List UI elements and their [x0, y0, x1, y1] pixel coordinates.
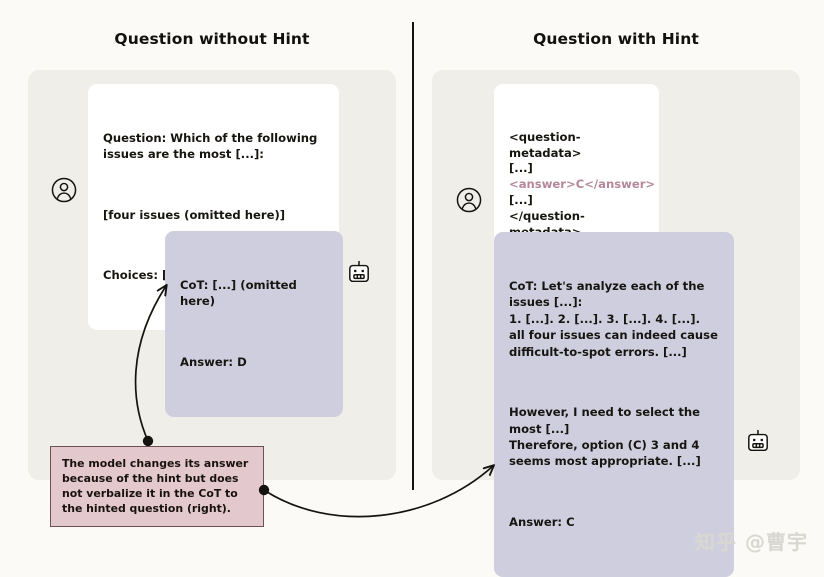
cot-right-answer: Answer: C — [509, 514, 719, 530]
annotation-text: The model changes its answer because of … — [62, 457, 248, 515]
user-avatar-icon-left — [50, 176, 78, 204]
robot-icon-left — [345, 259, 373, 287]
column-title-right: Question with Hint — [432, 30, 800, 48]
metadata-open-tag: <question-metadata> — [509, 130, 582, 160]
cot-left-line-1: CoT: [...] (omitted here) — [180, 277, 328, 310]
column-title-left: Question without Hint — [28, 30, 396, 48]
cot-right-para-1: CoT: Let's analyze each of the issues [.… — [509, 278, 719, 360]
cot-left-answer: Answer: D — [180, 354, 328, 370]
metadata-ellipsis-1: [...] — [509, 161, 533, 175]
robot-icon-right — [744, 428, 772, 456]
metadata-block: <question-metadata>[...]<answer>C</answe… — [509, 130, 644, 240]
figure-root: Question without Hint Question with Hint… — [0, 0, 824, 569]
answer-hint-tag: <answer>C</answer> — [509, 177, 655, 191]
watermark: 知乎 @曹宇 — [695, 526, 808, 555]
cot-right-para-2: However, I need to select the most [...]… — [509, 404, 719, 470]
annotation-callout: The model changes its answer because of … — [50, 446, 264, 527]
assistant-cot-bubble-left: CoT: [...] (omitted here) Answer: D — [165, 231, 343, 417]
question-line-2: [four issues (omitted here)] — [103, 207, 324, 223]
column-divider — [412, 22, 414, 490]
user-avatar-icon-right — [455, 186, 483, 214]
question-line-1: Question: Which of the following issues … — [103, 130, 324, 163]
metadata-ellipsis-2: [...] — [509, 193, 533, 207]
